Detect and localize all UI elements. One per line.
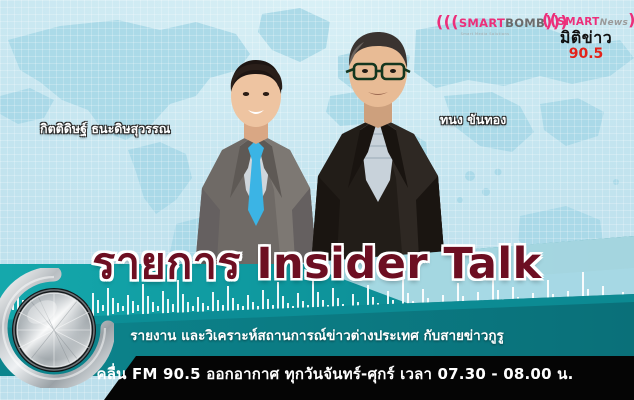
page-title: รายการ Insider Talk <box>0 243 634 286</box>
smart-news-logo: ((SMARTNews)) มิติข่าว 90.5 <box>542 10 630 61</box>
header-logos: (((SMARTBOMB))) Smart Media Solutions ((… <box>424 0 634 86</box>
smart-bomb-word-accent: BOMB <box>505 16 545 30</box>
host-name-left: กิตติดิษฐ์ ธนะดิษสุวรรณ <box>40 119 170 139</box>
broadcast-info-text: คลื่น FM 90.5 ออกอากาศ ทุกวันจันทร์-ศุกร… <box>0 365 634 383</box>
broadcast-info-bar: คลื่น FM 90.5 ออกอากาศ ทุกวันจันทร์-ศุกร… <box>0 356 634 400</box>
radio-wave-icon-2-right: )) <box>628 10 634 29</box>
station-frequency: 90.5 <box>542 47 630 62</box>
host-name-right: ทนง ขันทอง <box>440 110 506 130</box>
smart-bomb-word-main: SMART <box>459 16 505 30</box>
station-thai-name: มิติข่าว <box>542 30 630 47</box>
smart-news-word-accent: News <box>600 18 629 28</box>
smart-news-word-main: SMART <box>557 16 599 28</box>
radio-wave-icon-2: (( <box>542 10 557 29</box>
show-subtitle: รายงาน และวิเคราะห์สถานการณ์ข่าวต่างประเ… <box>0 329 634 344</box>
radio-show-poster: (((SMARTBOMB))) Smart Media Solutions ((… <box>0 0 634 400</box>
